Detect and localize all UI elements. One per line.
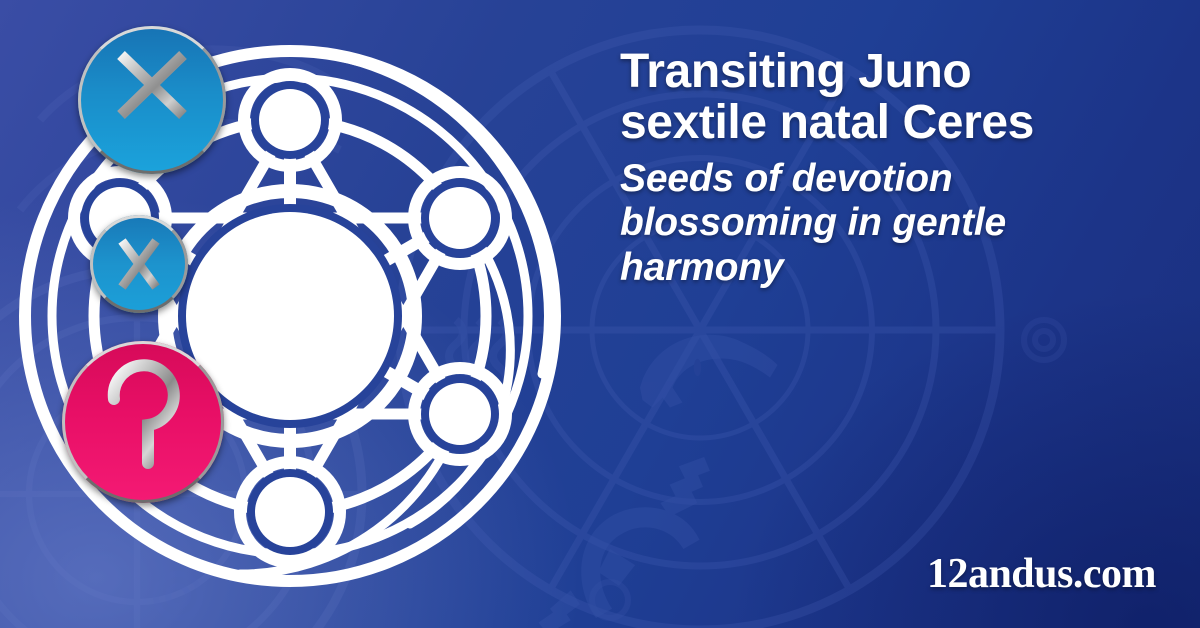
badge-sextile-aspect: [90, 215, 188, 313]
badge-ceres: [62, 341, 224, 503]
page-subtitle: Seeds of devotion blossoming in gentle h…: [620, 157, 1180, 290]
sextile-aspect-icon: [108, 233, 170, 295]
text-block: Transiting Juno sextile natal Ceres Seed…: [620, 46, 1180, 290]
badge-juno: [78, 26, 226, 174]
brand-wordmark: 12andus.com: [927, 550, 1156, 598]
page-title: Transiting Juno sextile natal Ceres: [620, 46, 1180, 149]
juno-symbol-icon: [100, 39, 204, 161]
ceres-symbol-icon: [90, 359, 196, 485]
banner-graphic: Transiting Juno sextile natal Ceres Seed…: [0, 0, 1200, 628]
